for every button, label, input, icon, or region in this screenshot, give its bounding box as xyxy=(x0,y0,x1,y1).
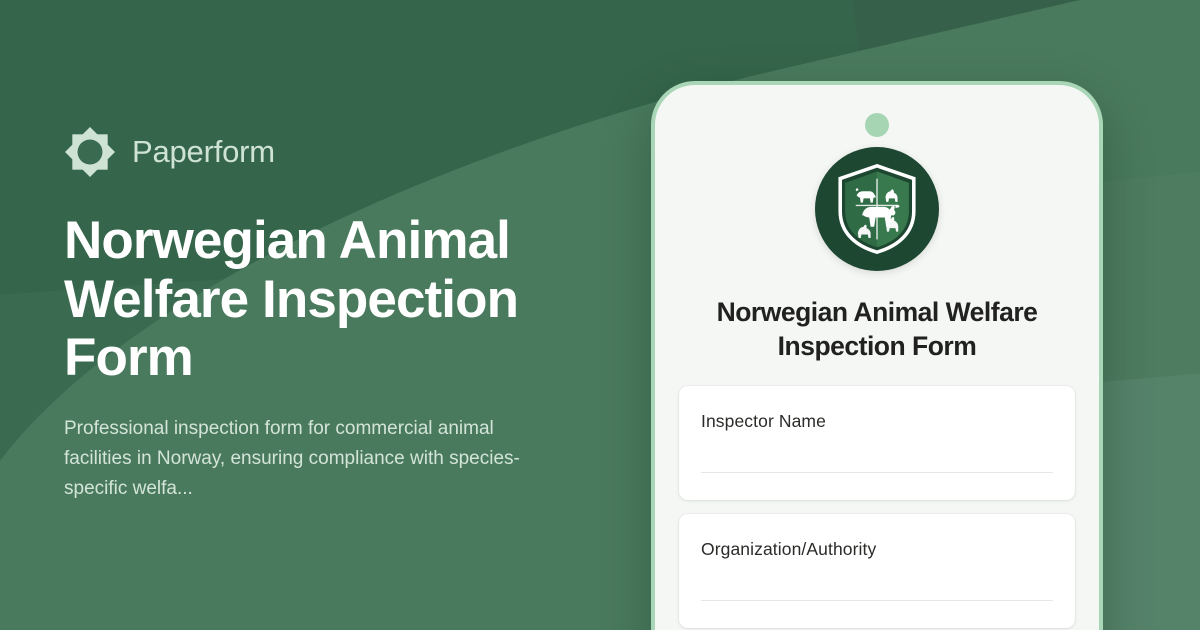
animal-welfare-shield-icon xyxy=(815,147,939,271)
hero-content: Paperform Norwegian Animal Welfare Inspe… xyxy=(64,0,624,630)
brand-name: Paperform xyxy=(132,134,275,170)
form-title: Norwegian Animal Welfare Inspection Form xyxy=(679,295,1075,364)
page-description: Professional inspection form for commerc… xyxy=(64,414,554,504)
field-input-underline[interactable] xyxy=(701,600,1053,601)
field-label: Inspector Name xyxy=(701,411,1053,432)
page-title: Norwegian Animal Welfare Inspection Form xyxy=(64,212,564,388)
paperform-logo-icon xyxy=(64,126,116,178)
phone-mockup: Norwegian Animal Welfare Inspection Form… xyxy=(651,81,1103,630)
form-field-inspector-name[interactable]: Inspector Name xyxy=(679,386,1075,500)
phone-screen: Norwegian Animal Welfare Inspection Form… xyxy=(655,147,1099,630)
promo-canvas: Paperform Norwegian Animal Welfare Inspe… xyxy=(0,0,1200,630)
field-input-underline[interactable] xyxy=(701,472,1053,473)
brand-lockup: Paperform xyxy=(64,126,624,178)
form-field-organization-authority[interactable]: Organization/Authority xyxy=(679,514,1075,628)
camera-dot-icon xyxy=(865,113,889,137)
form-logo-wrap xyxy=(679,147,1075,271)
field-label: Organization/Authority xyxy=(701,539,1053,560)
